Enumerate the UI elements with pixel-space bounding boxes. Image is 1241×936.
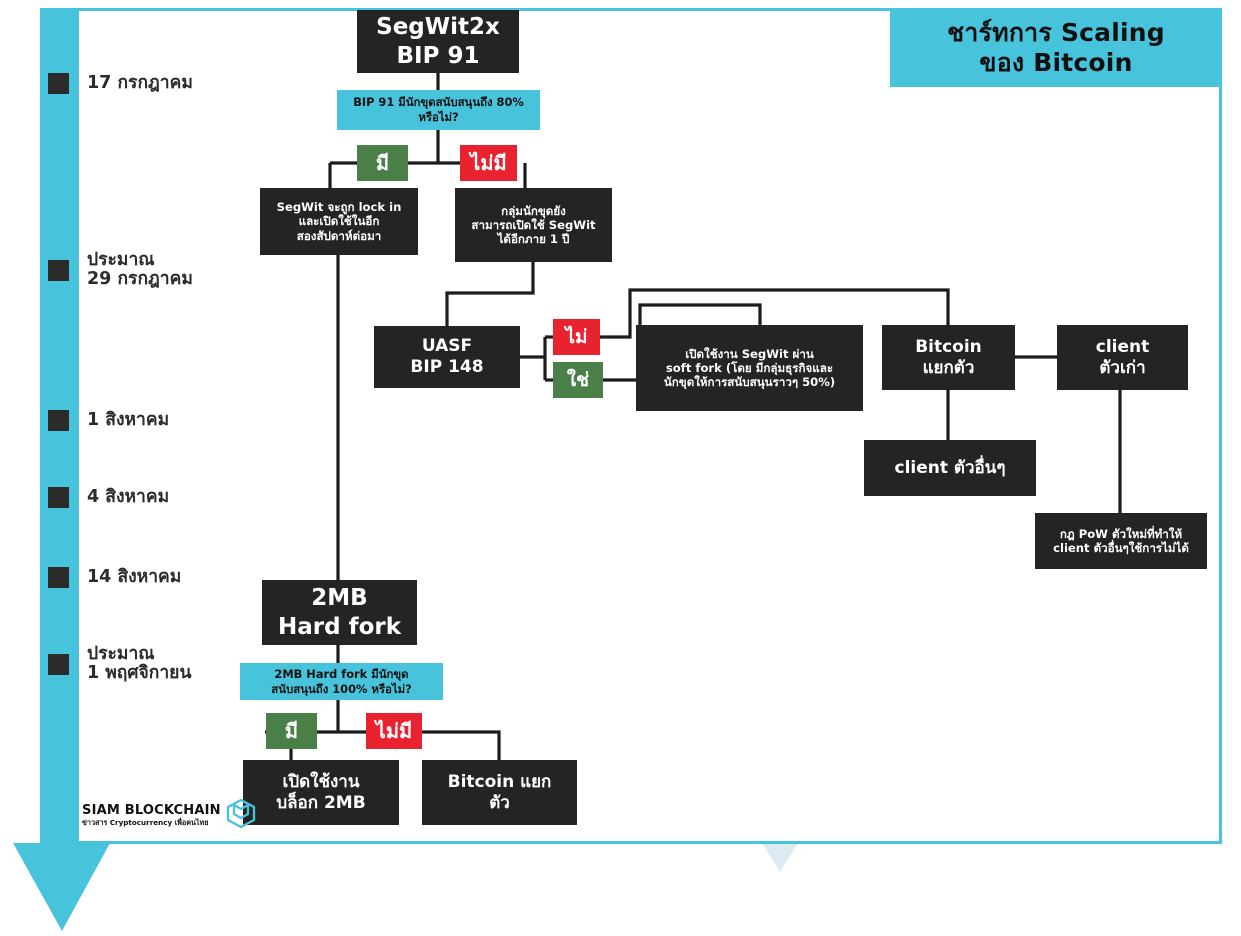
tag-yes-bip91: มี bbox=[357, 145, 408, 181]
timeline-item-5: ประมาณ 1 พฤศจิกายน bbox=[48, 645, 191, 684]
node-client-other[interactable]: client ตัวอื่นๆ bbox=[864, 440, 1036, 496]
tag-no-2mb: ไม่มี bbox=[366, 713, 422, 749]
timeline-item-0: 17 กรกฎาคม bbox=[48, 73, 193, 94]
timeline-item-label: ประมาณ 29 กรกฎาคม bbox=[87, 251, 193, 290]
node-2mb-hard-fork[interactable]: 2MB Hard fork bbox=[262, 580, 417, 645]
timeline-item-label: 4 สิงหาคม bbox=[87, 488, 169, 507]
timeline-marker bbox=[48, 73, 69, 94]
timeline-marker bbox=[48, 487, 69, 508]
timeline-item-label: 17 กรกฎาคม bbox=[87, 74, 193, 93]
page-title-line-1: ชาร์ทการ Scaling bbox=[947, 18, 1165, 48]
node-bitcoin-split[interactable]: Bitcoin แยกตัว bbox=[882, 325, 1015, 390]
node-uasf-bip148[interactable]: UASF BIP 148 bbox=[374, 326, 520, 388]
node-enable-segwit-soft-fork[interactable]: เปิดใช้งาน SegWit ผ่าน soft fork (โดย มี… bbox=[636, 325, 863, 411]
question-bip91: BIP 91 มีนักขุดสนับสนุนถึง 80% หรือไม่? bbox=[337, 90, 540, 130]
timeline-item-1: ประมาณ 29 กรกฎาคม bbox=[48, 251, 193, 290]
node-client-old[interactable]: client ตัวเก่า bbox=[1057, 325, 1188, 390]
timeline-item-4: 14 สิงหาคม bbox=[48, 567, 181, 588]
node-enable-2mb-block[interactable]: เปิดใช้งาน บล็อก 2MB bbox=[243, 760, 399, 825]
timeline-item-label: ประมาณ 1 พฤศจิกายน bbox=[87, 645, 191, 684]
node-bitcoin-split-2[interactable]: Bitcoin แยก ตัว bbox=[422, 760, 577, 825]
page-title: ชาร์ทการ Scaling ของ Bitcoin bbox=[890, 8, 1222, 87]
siam-blockchain-logo[interactable]: SIAM BLOCKCHAIN ข่าวสาร Cryptocurrency เ… bbox=[82, 797, 257, 833]
page-title-line-2: ของ Bitcoin bbox=[979, 48, 1132, 78]
tag-yes-2mb: มี bbox=[266, 713, 317, 749]
timeline-arrow-icon bbox=[10, 843, 110, 933]
infographic-canvas: ชาร์ทการ Scaling ของ Bitcoin 17 กรกฎาคม … bbox=[0, 0, 1241, 936]
logo-tagline: ข่าวสาร Cryptocurrency เพื่อคนไทย bbox=[82, 819, 221, 827]
logo-text: SIAM BLOCKCHAIN ข่าวสาร Cryptocurrency เ… bbox=[82, 804, 221, 827]
timeline-marker bbox=[48, 654, 69, 675]
timeline-item-3: 4 สิงหาคม bbox=[48, 487, 169, 508]
node-miners-can-still-enable[interactable]: กลุ่มนักขุดยัง สามารถเปิดใช้ SegWit ได้อ… bbox=[455, 188, 612, 262]
timeline-marker bbox=[48, 260, 69, 281]
node-segwit2x[interactable]: SegWit2x BIP 91 bbox=[357, 10, 519, 73]
logo-name: SIAM BLOCKCHAIN bbox=[82, 804, 221, 817]
content-panel bbox=[50, 8, 1222, 844]
node-segwit-lock-in[interactable]: SegWit จะถูก lock in และเปิดใช้ในอีก สอง… bbox=[260, 188, 418, 255]
timeline-item-label: 1 สิงหาคม bbox=[87, 411, 169, 430]
timeline-item-label: 14 สิงหาคม bbox=[87, 568, 181, 587]
tag-no-bip91: ไม่มี bbox=[460, 145, 517, 181]
question-2mb: 2MB Hard fork มีนักขุด สนับสนุนถึง 100% … bbox=[240, 663, 443, 700]
timeline-marker bbox=[48, 567, 69, 588]
tag-yes-uasf: ใช่ bbox=[553, 362, 603, 398]
node-new-pow-rule[interactable]: กฎ PoW ตัวใหม่ที่ทำให้ client ตัวอื่นๆใช… bbox=[1035, 513, 1207, 569]
timeline-marker bbox=[48, 410, 69, 431]
timeline-item-2: 1 สิงหาคม bbox=[48, 410, 169, 431]
cube-icon bbox=[225, 797, 257, 833]
tag-no-uasf: ไม่ bbox=[553, 319, 600, 355]
